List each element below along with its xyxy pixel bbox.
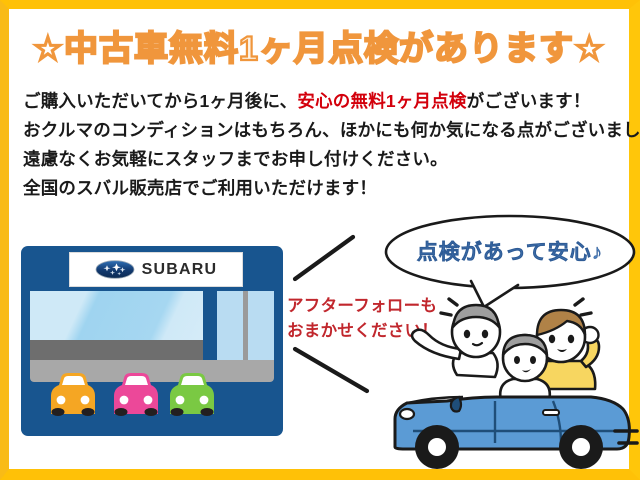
door-left-panel: [217, 282, 243, 360]
motion-marks-left: [441, 299, 457, 315]
poster-title-text: ☆中古車無料1ヶ月点検があります☆: [33, 21, 606, 70]
person-child: [500, 335, 550, 401]
showroom-car-orange: [43, 370, 101, 416]
family-car-illustration: [385, 297, 639, 477]
body-line-1-prefix: ご購入いただいてから1ヶ月後に、: [23, 91, 297, 111]
motion-marks-right: [575, 299, 591, 315]
body-line-1-suffix: がございます！: [467, 91, 591, 111]
showroom-car-green: [162, 370, 220, 416]
person-father: [412, 305, 500, 377]
showroom-floor-dark: [30, 340, 203, 360]
speech-bubble-shape: [377, 212, 640, 307]
dealership-illustration: SUBARU: [21, 246, 283, 436]
subaru-logo-icon: [95, 260, 135, 279]
body-copy: ご購入いただいてから1ヶ月後に、安心の無料1ヶ月点検がございます！ おクルマのコ…: [23, 87, 635, 203]
body-line-4: 全国のスバル販売店でご利用いただけます！: [23, 174, 635, 203]
body-line-2: おクルマのコンディションはもちろん、ほかにも何か気になる点がございましたら: [23, 116, 635, 145]
blue-car: [395, 397, 629, 469]
body-line-3: 遠慮なくお気軽にスタッフまでお申し付けください。: [23, 145, 635, 174]
promo-poster: ☆中古車無料1ヶ月点検があります☆ ご購入いただいてから1ヶ月後に、安心の無料1…: [0, 0, 640, 480]
poster-title: ☆中古車無料1ヶ月点検があります☆: [9, 21, 629, 70]
door-right-panel: [248, 282, 274, 360]
subaru-sign: SUBARU: [69, 252, 243, 287]
body-line-1-highlight: 安心の無料1ヶ月点検: [297, 91, 466, 111]
body-line-1: ご購入いただいてから1ヶ月後に、安心の無料1ヶ月点検がございます！: [23, 87, 635, 116]
subaru-sign-text: SUBARU: [142, 261, 218, 279]
speech-bubble: 点検があって安心♪: [377, 212, 640, 307]
showroom-car-pink: [106, 370, 164, 416]
